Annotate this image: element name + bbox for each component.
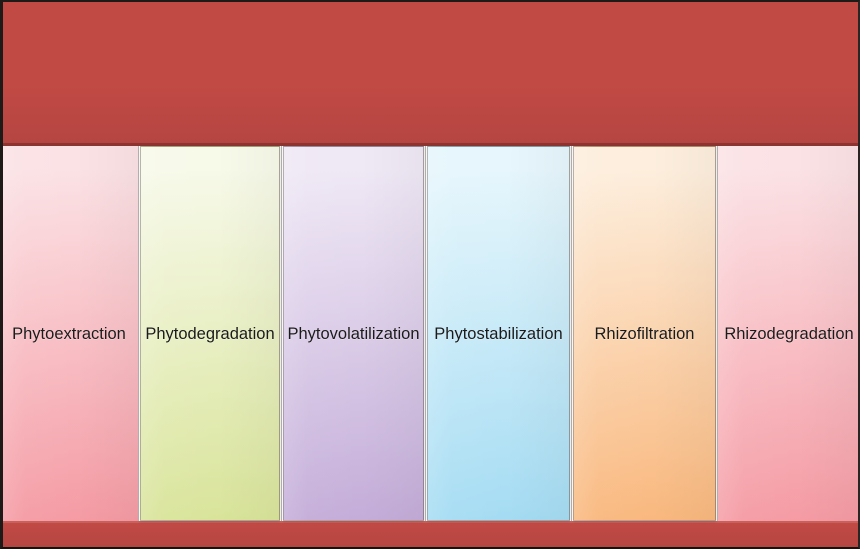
column-label-phytostabilization: Phytostabilization	[432, 324, 564, 344]
column-label-rhizodegradation: Rhizodegradation	[722, 324, 855, 344]
category-columns: Phytoextraction Phytodegradation Phytovo…	[0, 146, 860, 521]
column-phytoextraction[interactable]: Phytoextraction	[0, 146, 139, 521]
phytoremediation-slide: Phytoremediation Phytoextraction Phytode…	[0, 0, 860, 549]
bottom-band-highlight	[0, 521, 860, 523]
column-label-phytoextraction: Phytoextraction	[10, 324, 128, 344]
column-phytostabilization[interactable]: Phytostabilization	[426, 146, 572, 521]
column-label-phytodegradation: Phytodegradation	[143, 324, 276, 344]
bottom-band	[0, 521, 860, 549]
column-rhizofiltration[interactable]: Rhizofiltration	[572, 146, 718, 521]
column-label-phytovolatilization: Phytovolatilization	[285, 324, 421, 344]
column-phytodegradation[interactable]: Phytodegradation	[139, 146, 282, 521]
title-band	[0, 0, 860, 146]
column-rhizodegradation[interactable]: Rhizodegradation	[718, 146, 860, 521]
column-phytovolatilization[interactable]: Phytovolatilization	[282, 146, 426, 521]
column-label-rhizofiltration: Rhizofiltration	[593, 324, 697, 344]
